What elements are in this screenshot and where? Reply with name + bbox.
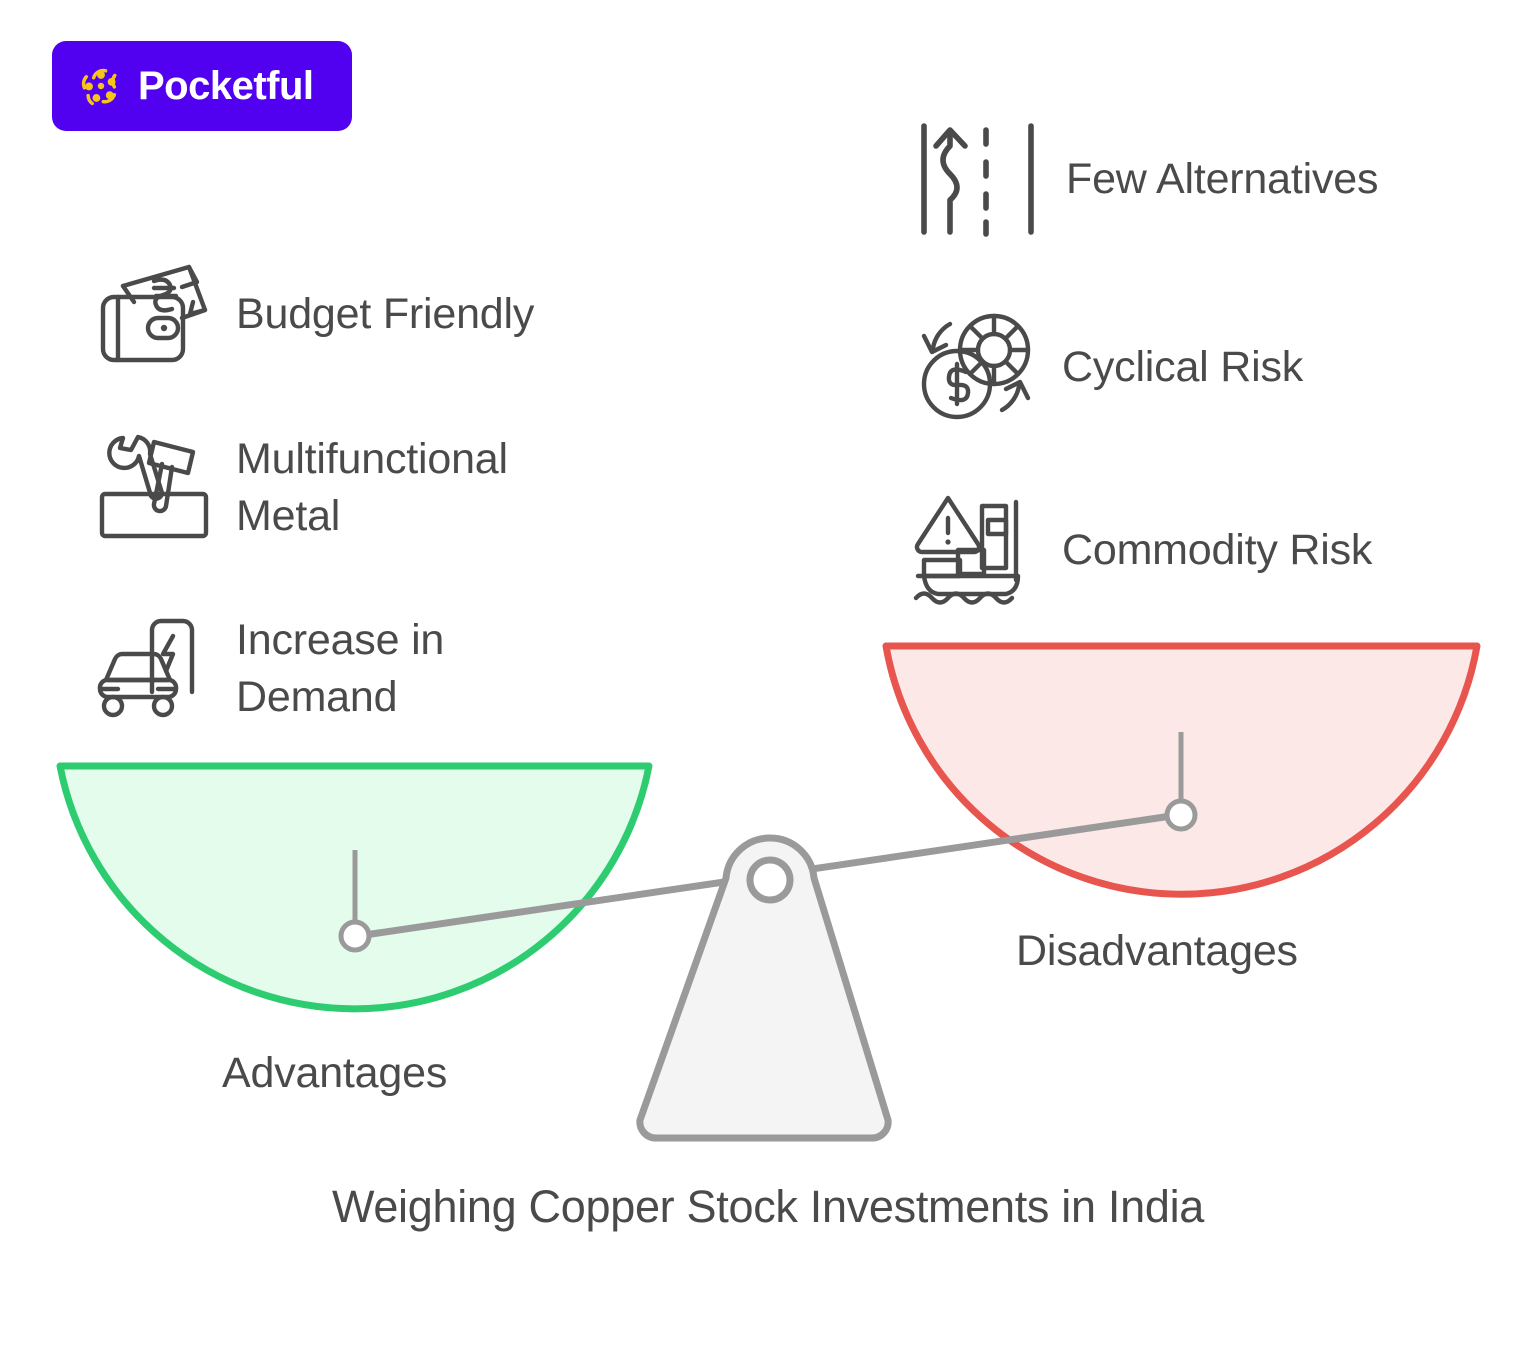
brand-name: Pocketful [138, 66, 314, 106]
disadvantage-label-few-alternatives: Few Alternatives [1066, 151, 1378, 208]
disadvantage-item-commodity-risk: Commodity Risk [912, 492, 1372, 608]
bottom-title: Weighing Copper Stock Investments in Ind… [0, 1184, 1536, 1229]
cargo-ship-warning-icon [912, 492, 1040, 608]
advantage-label-budget-friendly: Budget Friendly [236, 286, 534, 343]
advantage-label-multifunctional-metal: Multifunctional Metal [236, 431, 508, 545]
advantages-pan [60, 766, 649, 1009]
advantage-item-increase-in-demand: Increase in Demand [96, 612, 444, 726]
disadvantage-label-commodity-risk: Commodity Risk [1062, 522, 1372, 579]
toolbox-wrench-hammer-icon [96, 428, 214, 548]
disadvantage-label-cyclical-risk: Cyclical Risk [1062, 339, 1303, 396]
dollar-coin-cycle-icon [912, 306, 1040, 428]
advantages-joint [341, 922, 369, 950]
advantage-item-multifunctional-metal: Multifunctional Metal [96, 428, 508, 548]
advantage-label-increase-in-demand: Increase in Demand [236, 612, 444, 726]
road-winding-arrow-icon [912, 118, 1044, 240]
disadvantages-pan [886, 646, 1477, 894]
infographic-canvas: Pocketful Budget Friendly [0, 0, 1536, 1353]
advantages-caption: Advantages [222, 1052, 447, 1095]
wallet-money-icon [96, 262, 214, 366]
disadvantage-item-few-alternatives: Few Alternatives [912, 118, 1378, 240]
disadvantages-caption: Disadvantages [1016, 930, 1298, 973]
electric-car-charging-icon [96, 614, 214, 724]
brand-badge: Pocketful [52, 41, 352, 131]
scale-beam [358, 815, 1178, 936]
disadvantage-item-cyclical-risk: Cyclical Risk [912, 306, 1303, 428]
pocketful-logo-icon [78, 63, 124, 109]
fulcrum [640, 838, 888, 1138]
disadvantages-joint [1167, 801, 1195, 829]
advantage-item-budget-friendly: Budget Friendly [96, 262, 534, 366]
fulcrum-pivot-hole [750, 860, 790, 900]
